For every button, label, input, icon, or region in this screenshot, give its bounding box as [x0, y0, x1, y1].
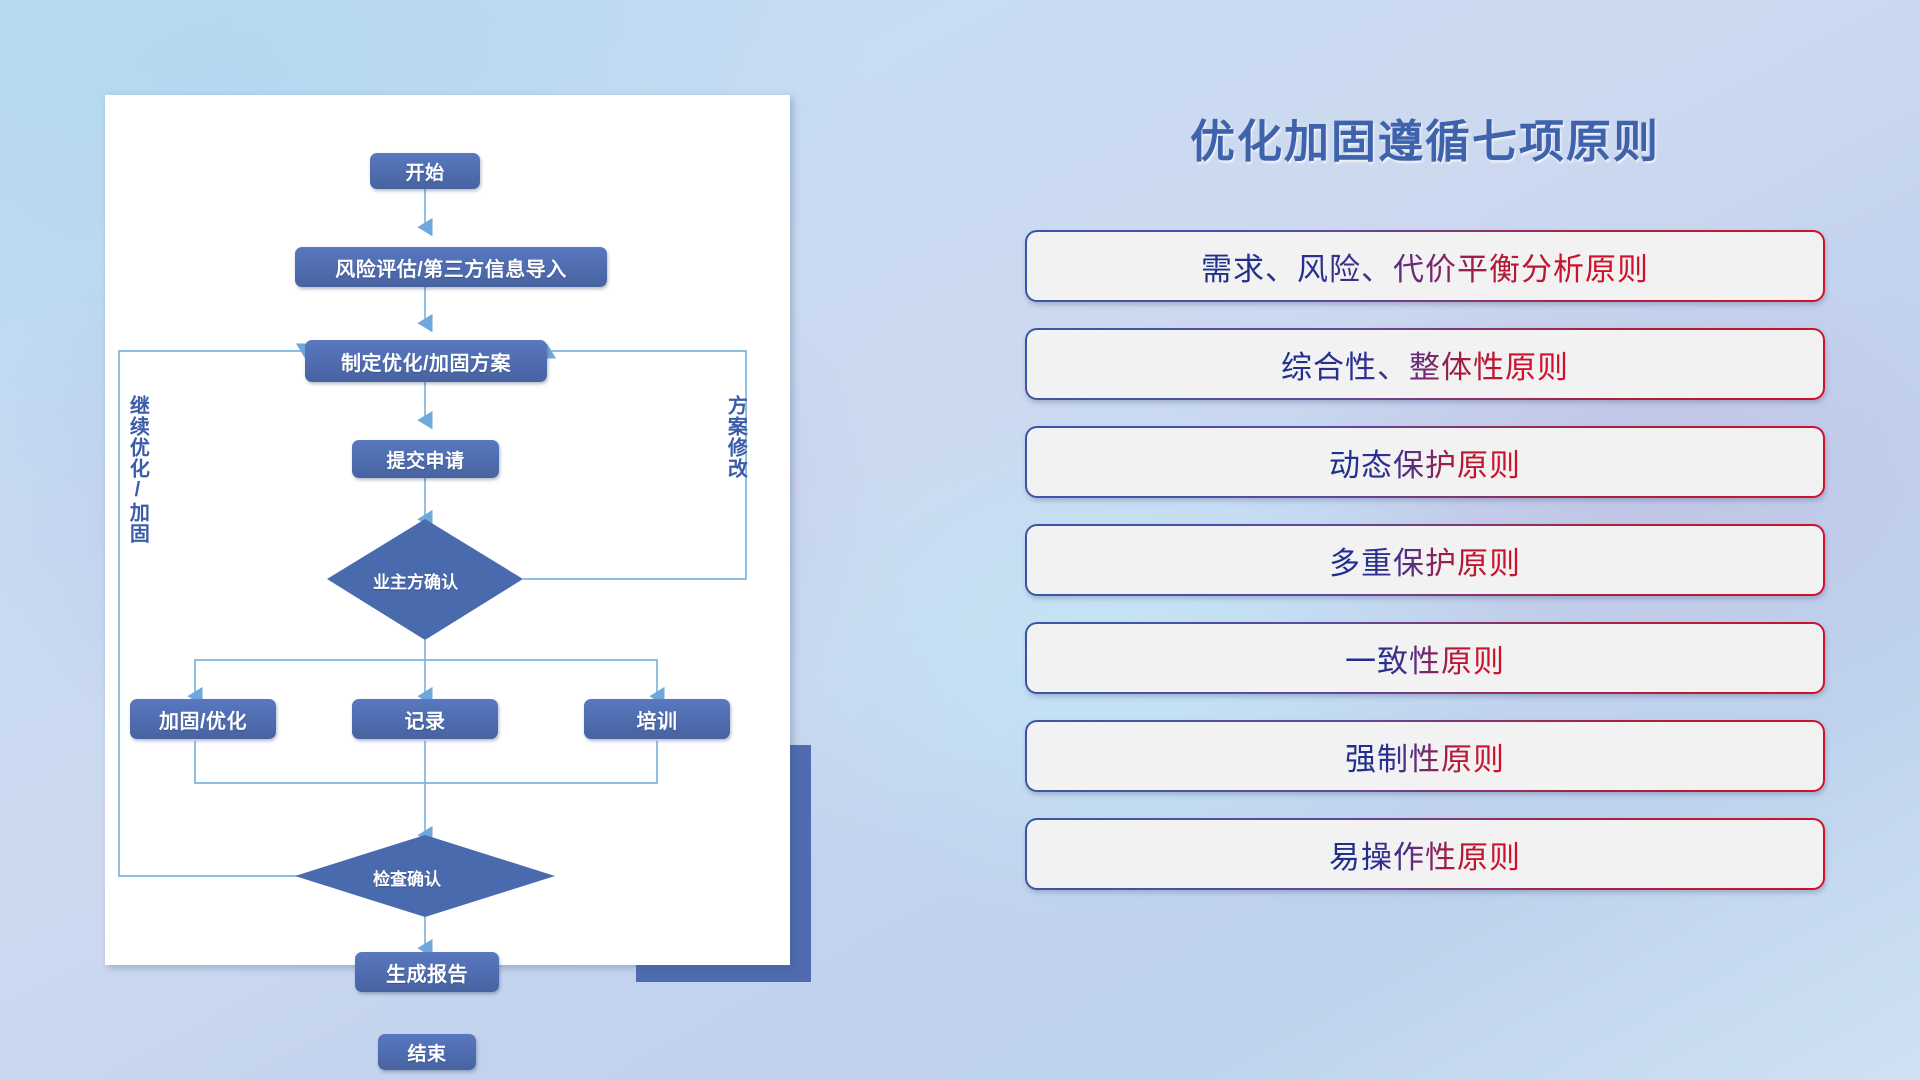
page-title: 优化加固遵循七项原则 [1010, 105, 1840, 170]
node-reinforce-optimize[interactable]: 加固/优化 [130, 699, 276, 739]
principle-inner: 一致性原则 [1027, 624, 1823, 692]
node-start[interactable]: 开始 [370, 153, 480, 189]
slide-canvas: 业主方确认 检查确认 开始 风险评估/第三方信息导入 制定优化/加固方案 提交申… [0, 0, 1920, 1080]
principles-panel: 优化加固遵循七项原则 需求、风险、代价平衡分析原则 综合性、整体性原则 动态保护… [1010, 0, 1890, 1080]
principle-item[interactable]: 多重保护原则 [1025, 524, 1825, 596]
node-owner-confirm-label: 业主方确认 [373, 568, 458, 593]
node-risk-assessment[interactable]: 风险评估/第三方信息导入 [295, 247, 607, 287]
principle-item[interactable]: 一致性原则 [1025, 622, 1825, 694]
principle-list: 需求、风险、代价平衡分析原则 综合性、整体性原则 动态保护原则 多重保护原则 [1025, 230, 1825, 916]
edge-label-plan-revision: 方案修改 [725, 395, 745, 479]
node-generate-report[interactable]: 生成报告 [355, 952, 499, 992]
principle-item[interactable]: 易操作性原则 [1025, 818, 1825, 890]
principle-item[interactable]: 强制性原则 [1025, 720, 1825, 792]
principle-label: 需求、风险、代价平衡分析原则 [1201, 244, 1649, 289]
principle-label: 一致性原则 [1345, 636, 1505, 681]
principle-item[interactable]: 综合性、整体性原则 [1025, 328, 1825, 400]
principle-inner: 多重保护原则 [1027, 526, 1823, 594]
principle-inner: 动态保护原则 [1027, 428, 1823, 496]
node-submit-application[interactable]: 提交申请 [352, 440, 499, 478]
node-end[interactable]: 结束 [378, 1034, 476, 1070]
node-inspection-confirm-label: 检查确认 [373, 865, 441, 890]
flowchart-card: 业主方确认 检查确认 开始 风险评估/第三方信息导入 制定优化/加固方案 提交申… [105, 95, 790, 965]
principle-label: 多重保护原则 [1329, 538, 1521, 583]
flowchart-connectors [105, 95, 790, 965]
principle-inner: 强制性原则 [1027, 722, 1823, 790]
edge-label-continue-optimize: 继续优化/加固 [127, 395, 147, 544]
principle-inner: 综合性、整体性原则 [1027, 330, 1823, 398]
node-make-plan[interactable]: 制定优化/加固方案 [305, 340, 547, 382]
node-training[interactable]: 培训 [584, 699, 730, 739]
principle-label: 易操作性原则 [1329, 832, 1521, 877]
principle-label: 强制性原则 [1345, 734, 1505, 779]
principle-inner: 需求、风险、代价平衡分析原则 [1027, 232, 1823, 300]
principle-item[interactable]: 动态保护原则 [1025, 426, 1825, 498]
principle-label: 动态保护原则 [1329, 440, 1521, 485]
node-record[interactable]: 记录 [352, 699, 498, 739]
principle-label: 综合性、整体性原则 [1281, 342, 1569, 387]
principle-inner: 易操作性原则 [1027, 820, 1823, 888]
principle-item[interactable]: 需求、风险、代价平衡分析原则 [1025, 230, 1825, 302]
